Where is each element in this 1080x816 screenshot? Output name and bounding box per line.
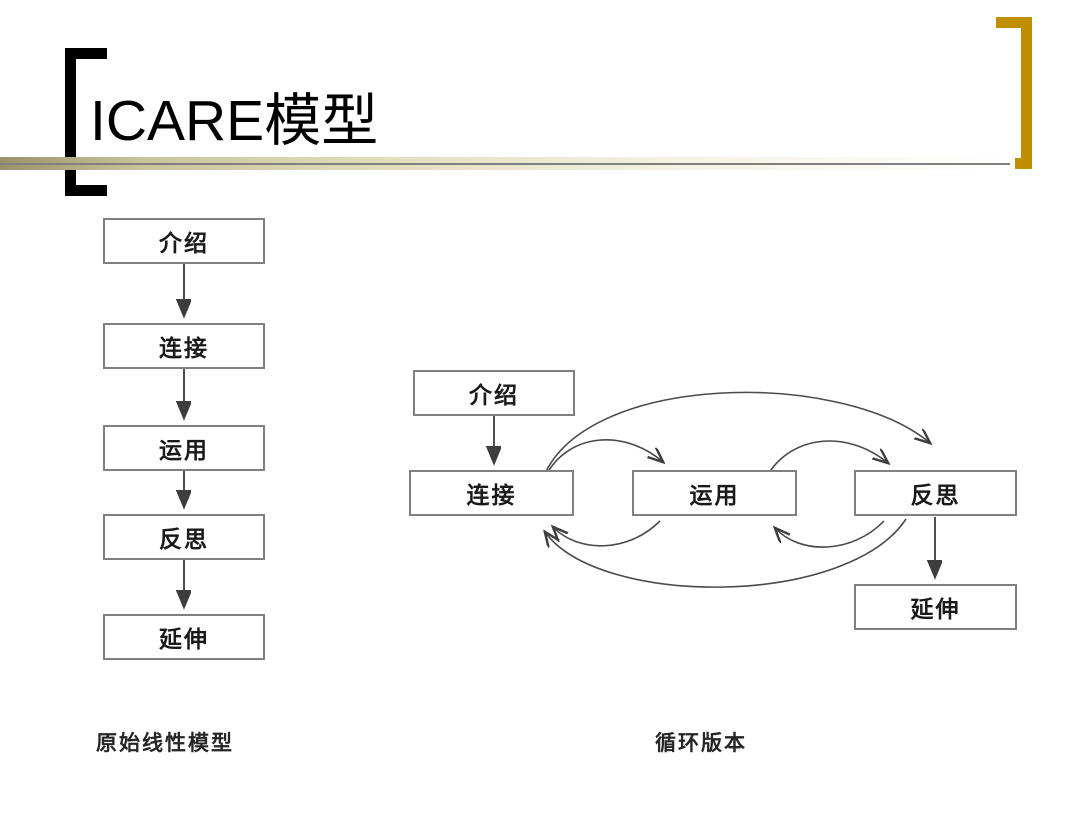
arrow-cyc-reflect-to-apply bbox=[775, 521, 884, 547]
linear-node-connect[interactable]: 连接 bbox=[103, 323, 265, 369]
arrow-cyc-apply-to-connect bbox=[553, 521, 660, 546]
arrow-cyc-connect-to-reflect bbox=[542, 392, 930, 481]
cyclic-node-apply[interactable]: 运用 bbox=[632, 470, 797, 516]
cyclic-node-connect[interactable]: 连接 bbox=[409, 470, 574, 516]
cyclic-model-caption: 循环版本 bbox=[655, 727, 747, 757]
linear-node-intro[interactable]: 介绍 bbox=[103, 218, 265, 264]
title-divider-line bbox=[0, 163, 1010, 165]
cyclic-node-extend[interactable]: 延伸 bbox=[854, 584, 1017, 630]
cyclic-node-intro[interactable]: 介绍 bbox=[413, 370, 575, 416]
slide-canvas: ICARE模型 bbox=[0, 0, 1080, 816]
linear-model-caption: 原始线性模型 bbox=[96, 727, 234, 757]
linear-node-extend[interactable]: 延伸 bbox=[103, 614, 265, 660]
page-title: ICARE模型 bbox=[90, 86, 378, 156]
cyclic-node-reflect[interactable]: 反思 bbox=[854, 470, 1017, 516]
linear-node-apply[interactable]: 运用 bbox=[103, 425, 265, 471]
linear-node-reflect[interactable]: 反思 bbox=[103, 514, 265, 560]
right-bracket-decoration bbox=[996, 17, 1032, 169]
arrow-cyc-reflect-to-connect bbox=[545, 519, 906, 587]
